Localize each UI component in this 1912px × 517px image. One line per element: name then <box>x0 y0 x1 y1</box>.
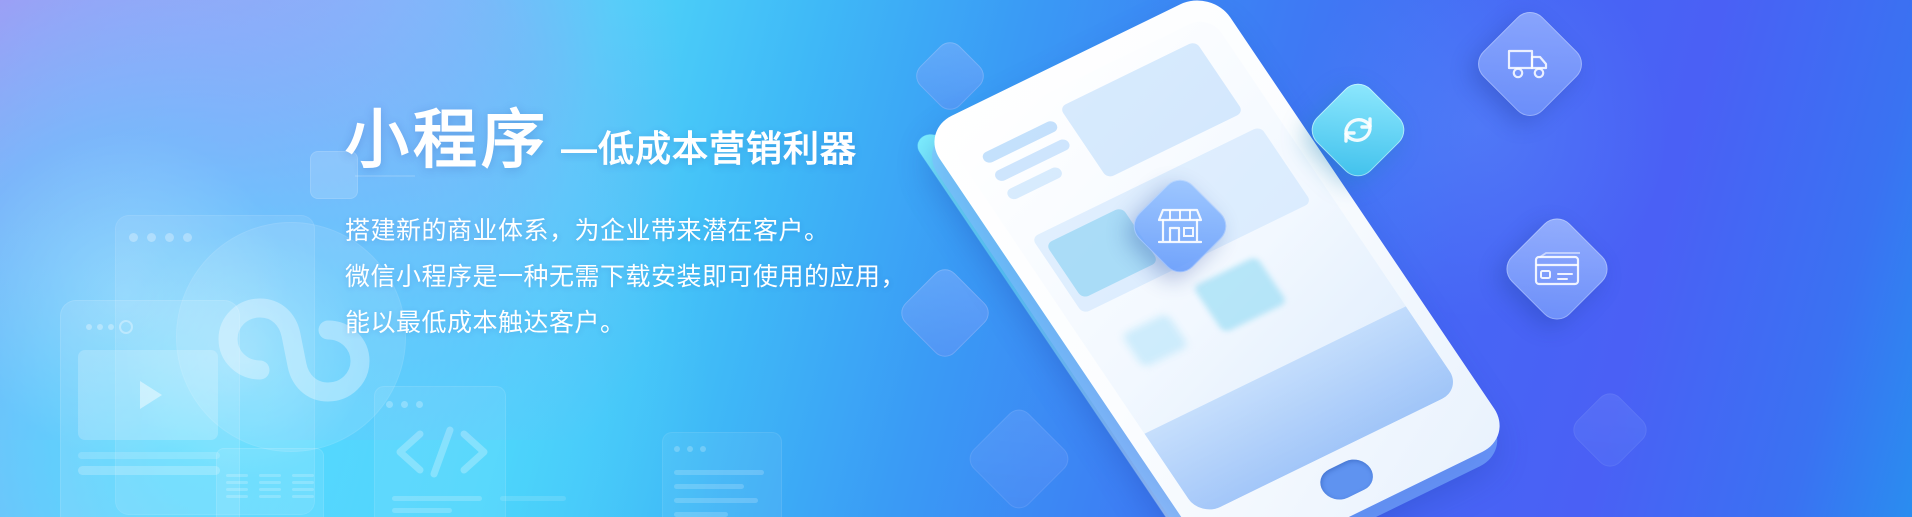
list-column <box>259 474 281 502</box>
delivery-truck-icon <box>1471 5 1590 124</box>
text-line <box>392 496 482 501</box>
phone-illustration <box>1020 0 1912 517</box>
page-title: 小程序 <box>345 108 549 172</box>
hero-description: 搭建新的商业体系，为企业带来潜在客户。 微信小程序是一种无需下载安装即可使用的应… <box>345 208 965 346</box>
description-line: 能以最低成本触达客户。 <box>345 300 965 346</box>
mini-program-hero-banner: 小程序 —低成本营销利器 搭建新的商业体系，为企业带来潜在客户。 微信小程序是一… <box>0 0 1912 517</box>
decorative-diamond <box>964 404 1074 514</box>
browser-window <box>115 215 315 515</box>
code-window <box>374 386 506 517</box>
text-line <box>78 452 220 459</box>
text-line <box>674 470 764 475</box>
list-column <box>226 474 248 502</box>
list-card <box>216 448 324 517</box>
text-line <box>392 508 452 513</box>
window-dots <box>129 233 192 242</box>
screen-tile <box>1193 256 1288 333</box>
list-column <box>292 474 314 502</box>
video-card-toolbar <box>86 320 133 334</box>
document-window <box>662 432 782 517</box>
text-line <box>674 512 728 517</box>
window-dots <box>674 446 706 452</box>
play-icon <box>140 381 162 409</box>
text-line <box>500 496 566 501</box>
video-card <box>60 300 240 517</box>
page-subtitle: —低成本营销利器 <box>561 131 857 172</box>
video-thumbnail <box>78 350 218 440</box>
hero-title-row: 小程序 —低成本营销利器 <box>345 108 965 172</box>
text-line <box>674 498 758 503</box>
code-brackets-icon <box>394 426 490 478</box>
window-dots <box>386 401 423 408</box>
description-line: 搭建新的商业体系，为企业带来潜在客户。 <box>345 208 965 254</box>
screen-tile <box>1121 313 1189 368</box>
description-line: 微信小程序是一种无需下载安装即可使用的应用， <box>345 254 965 300</box>
text-line <box>674 484 744 489</box>
highlight-blob <box>0 130 290 460</box>
highlight-blob <box>120 230 370 480</box>
text-line <box>78 466 220 475</box>
screen-footer-band <box>1144 306 1461 516</box>
record-ring-icon <box>119 320 133 334</box>
hero-copy: 小程序 —低成本营销利器 搭建新的商业体系，为企业带来潜在客户。 微信小程序是一… <box>345 108 965 346</box>
phone-home-button <box>1314 454 1380 505</box>
